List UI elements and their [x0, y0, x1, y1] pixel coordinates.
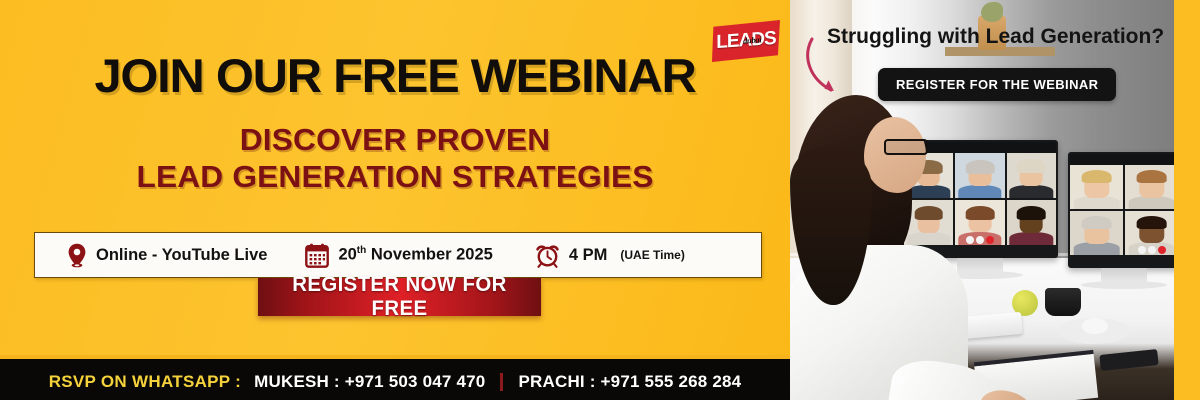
photo-question-text: Struggling with Lead Generation? — [827, 25, 1164, 49]
video-tile — [1070, 211, 1123, 255]
event-timezone-note: (UAE Time) — [620, 248, 684, 262]
photo-person-glasses — [884, 139, 928, 155]
video-tile — [1125, 165, 1174, 209]
rsvp-bar: RSVP ON WHATSAPP : MUKESH : +971 503 047… — [0, 355, 790, 400]
event-location-text: Online - YouTube Live — [96, 246, 267, 265]
rsvp-label: RSVP ON WHATSAPP : — [49, 372, 241, 392]
event-date-rest: November 2025 — [371, 246, 493, 264]
event-date-text: 20th November 2025 — [338, 245, 492, 265]
event-date: 20th November 2025 — [267, 243, 492, 268]
alarm-clock-icon — [535, 243, 560, 268]
subheading-line-1: DISCOVER PROVEN — [0, 122, 798, 158]
rsvp-contact-1[interactable]: MUKESH : +971 503 047 470 — [254, 372, 485, 392]
webinar-banner: LEADS dubai JOIN OUR FREE WEBINAR DISCOV… — [0, 0, 1200, 400]
logo-subtext: dubai — [743, 34, 762, 45]
register-webinar-button[interactable]: REGISTER FOR THE WEBINAR — [878, 68, 1116, 101]
video-tile-active — [1125, 211, 1174, 255]
rsvp-separator — [500, 373, 503, 391]
register-now-label: REGISTER NOW FOR FREE — [262, 273, 537, 321]
subheading: DISCOVER PROVEN LEAD GENERATION STRATEGI… — [0, 122, 790, 196]
call-controls — [1138, 246, 1166, 254]
video-tile — [1007, 153, 1056, 198]
event-date-day: 20 — [338, 246, 356, 264]
register-now-button[interactable]: REGISTER NOW FOR FREE — [258, 278, 541, 316]
monitor-toolbar — [1070, 154, 1174, 165]
subheading-line-2: LEAD GENERATION STRATEGIES — [0, 158, 798, 196]
photo-person-face — [864, 117, 926, 193]
rsvp-contact-2[interactable]: PRACHI : +971 555 268 284 — [518, 372, 741, 392]
right-yellow-strip — [1174, 0, 1200, 400]
event-details-bar: Online - YouTube Live — [34, 232, 762, 278]
photo-person — [790, 95, 977, 400]
event-location: Online - YouTube Live — [35, 243, 267, 268]
photo-plant-leaf — [981, 2, 1003, 22]
video-tile — [1007, 200, 1056, 245]
location-pin-icon — [67, 243, 87, 268]
main-headline: JOIN OUR FREE WEBINAR — [0, 52, 806, 99]
event-time-text: 4 PM — [569, 246, 608, 265]
photo-mouse — [1082, 318, 1108, 334]
left-content-panel: LEADS dubai JOIN OUR FREE WEBINAR DISCOV… — [0, 0, 790, 355]
photo-cup — [1045, 288, 1081, 316]
video-call-grid — [1070, 165, 1174, 255]
event-time: 4 PM (UAE Time) — [493, 243, 685, 268]
webinar-photo: Struggling with Lead Generation? REGISTE… — [790, 0, 1174, 400]
calendar-icon — [305, 243, 329, 268]
video-tile — [1070, 165, 1123, 209]
event-date-ordinal: th — [357, 245, 366, 256]
photo-monitor-right — [1068, 152, 1174, 268]
monitor-base — [1081, 281, 1167, 289]
